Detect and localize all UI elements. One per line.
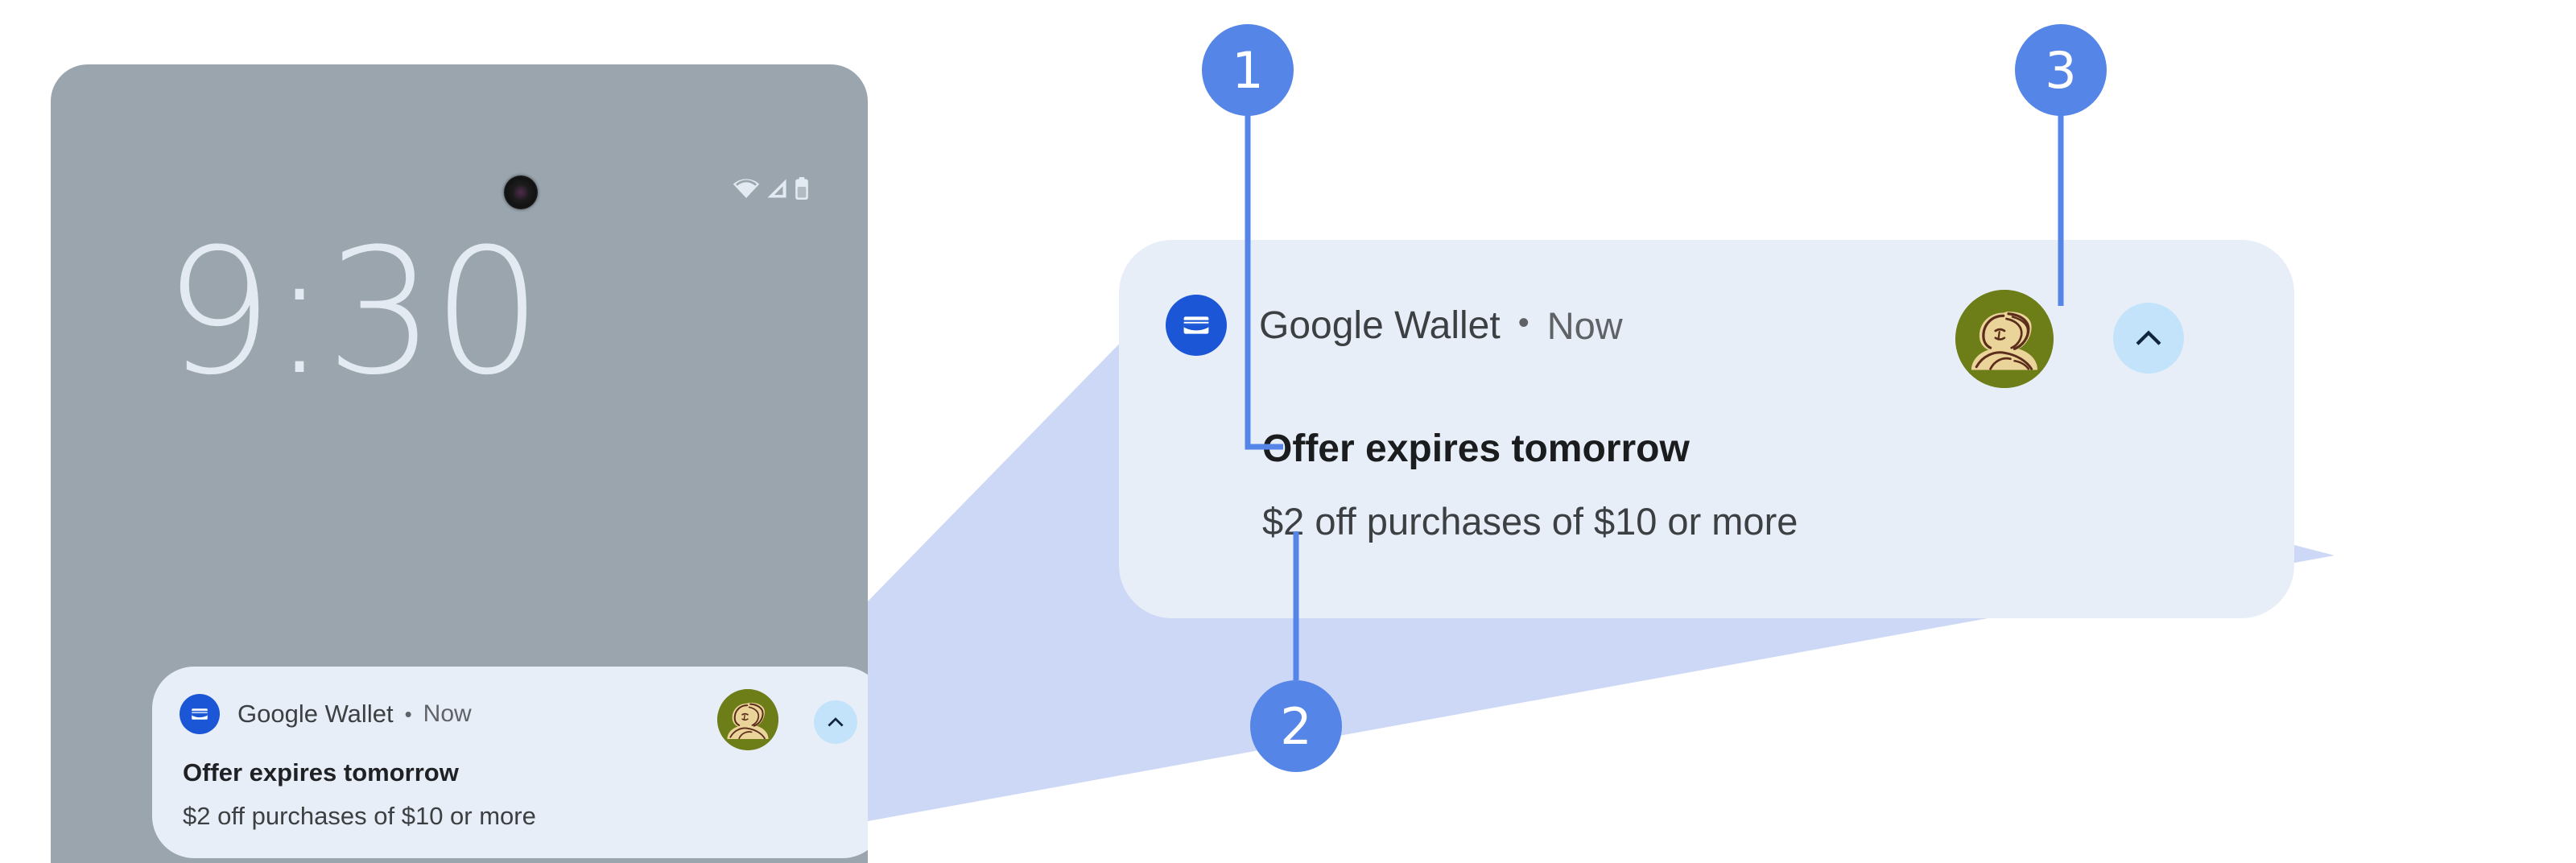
screenshot-stage: 9:30 Google Wallet • Now Offer expires t…	[0, 0, 2576, 863]
leader-line-1	[1248, 97, 1283, 447]
callout-leader-lines	[0, 0, 2576, 863]
